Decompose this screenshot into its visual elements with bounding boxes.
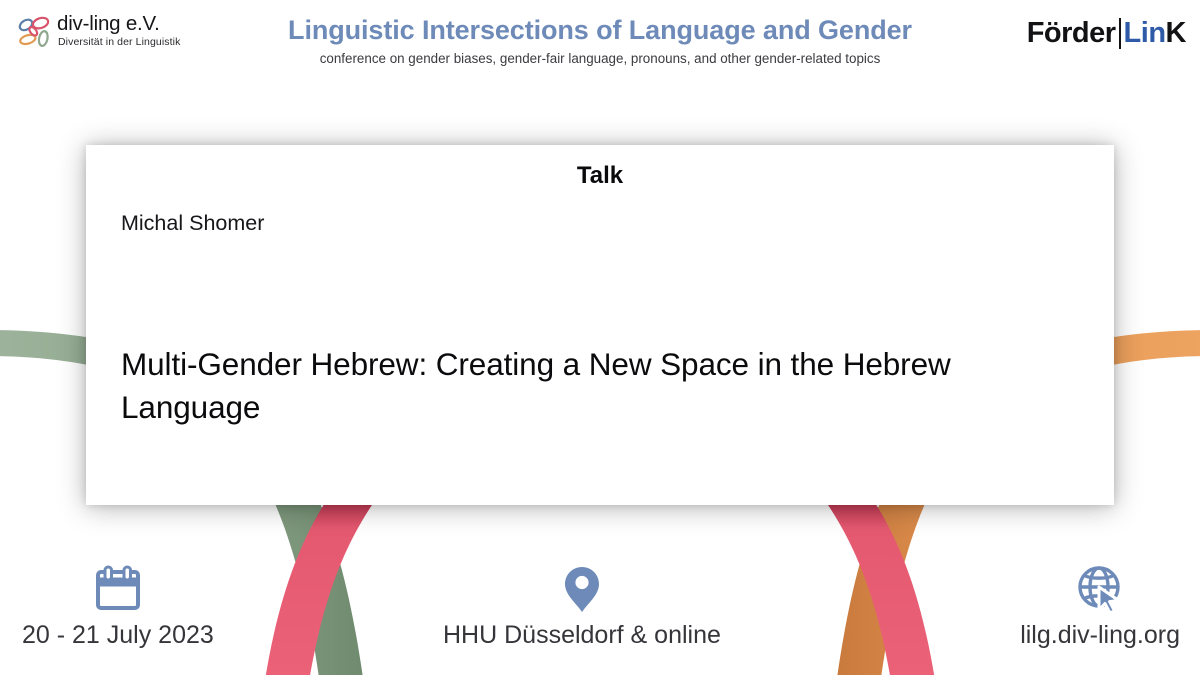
session-title: Multi-Gender Hebrew: Creating a New Spac… <box>121 343 1054 429</box>
slide-header: div-ling e.V. Diversität in der Linguist… <box>0 0 1200 88</box>
session-card: Talk Michal Shomer Multi-Gender Hebrew: … <box>86 145 1114 505</box>
foerderlink-separator-bar <box>1119 18 1121 49</box>
foerderlink-logo: Förder Lin K <box>1027 16 1186 50</box>
foerderlink-part3: K <box>1166 16 1186 50</box>
speaker-name: Michal Shomer <box>121 210 264 237</box>
footer-venue-label: HHU Düsseldorf & online <box>443 619 721 651</box>
footer-item-date: 20 - 21 July 2023 <box>22 563 214 651</box>
globe-cursor-icon <box>1073 563 1127 615</box>
slide-footer: 20 - 21 July 2023 HHU Düsseldorf & onlin… <box>0 555 1200 675</box>
brand-name: div-ling e.V. <box>57 12 180 35</box>
footer-item-website[interactable]: lilg.div-ling.org <box>1020 563 1180 651</box>
brand-text: div-ling e.V. Diversität in der Linguist… <box>57 12 180 48</box>
brand-logo: div-ling e.V. Diversität in der Linguist… <box>16 12 180 54</box>
conference-slide: div-ling e.V. Diversität in der Linguist… <box>0 0 1200 675</box>
conference-heading: Linguistic Intersections of Language and… <box>200 14 1000 68</box>
foerderlink-part2: Lin <box>1124 16 1166 50</box>
session-type-label: Talk <box>86 161 1114 191</box>
conference-title: Linguistic Intersections of Language and… <box>200 14 1000 47</box>
div-ling-ellipses-logo <box>16 14 56 54</box>
footer-website-label: lilg.div-ling.org <box>1020 619 1180 651</box>
foerderlink-part1: Förder <box>1027 16 1116 50</box>
brand-subtitle: Diversität in der Linguistik <box>58 36 180 48</box>
footer-date-label: 20 - 21 July 2023 <box>22 619 214 651</box>
footer-item-venue: HHU Düsseldorf & online <box>443 563 721 651</box>
conference-subtitle: conference on gender biases, gender-fair… <box>200 50 1000 68</box>
map-pin-icon <box>560 563 604 615</box>
calendar-icon <box>91 563 145 615</box>
